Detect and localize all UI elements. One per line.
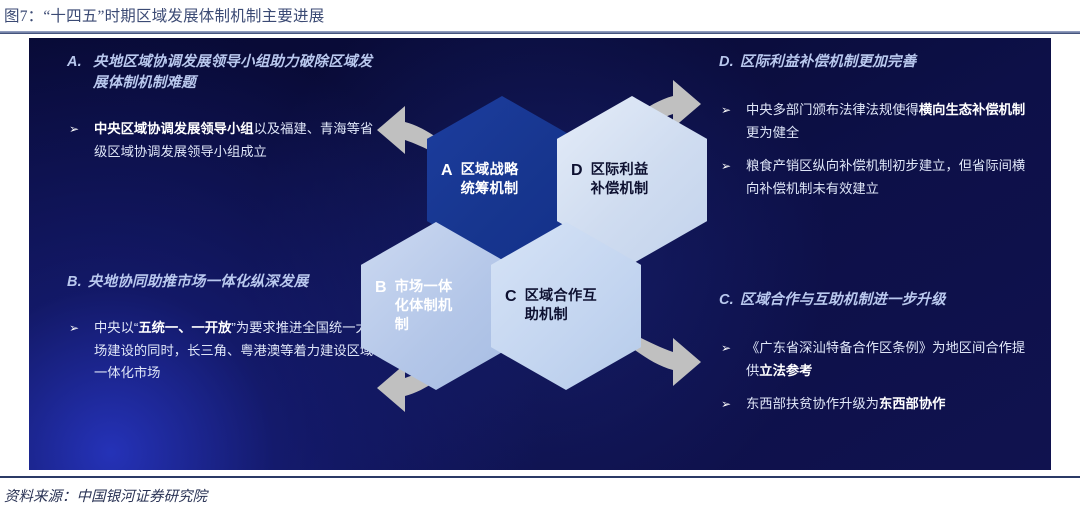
bullet-text: 中央多部门颁布法律法规使得横向生态补偿机制更为健全 [746, 102, 1025, 140]
section-d-bullet-1: ➢ 中央多部门颁布法律法规使得横向生态补偿机制更为健全 [719, 99, 1037, 144]
source-note: 资料来源：中国银河证券研究院 [4, 485, 207, 506]
section-a-bullet-1: ➢ 中央区域协调发展领导小组以及福建、青海等省级区域协调发展领导小组成立 [67, 118, 385, 163]
hexagon-d-label: 区际利益补偿机制 [591, 161, 649, 199]
bullet-arrow-icon: ➢ [721, 337, 731, 360]
hexagon-d-letter: D [571, 161, 583, 180]
section-b-heading-text: 央地协同助推市场一体化纵深发展 [88, 274, 309, 290]
section-b: B.央地协同助推市场一体化纵深发展 ➢ 中央以“五统一、一开放”为要求推进全国统… [67, 272, 385, 385]
bullet-text: 东西部扶贫协作升级为东西部协作 [746, 396, 945, 411]
bullet-text: 中央以“五统一、一开放”为要求推进全国统一大市场建设的同时，长三角、粤港澳等着力… [94, 320, 382, 380]
bullet-text: 粮食产销区纵向补偿机制初步建立，但省际间横向补偿机制未有效建立 [746, 158, 1025, 196]
section-b-heading: B.央地协同助推市场一体化纵深发展 [67, 272, 385, 293]
hexagon-b-label: 市场一体化体制机制 [395, 278, 453, 335]
section-b-bullet-1: ➢ 中央以“五统一、一开放”为要求推进全国统一大市场建设的同时，长三角、粤港澳等… [67, 317, 385, 385]
bullet-arrow-icon: ➢ [721, 393, 731, 416]
section-a-heading: A.央地区域协调发展领导小组助力破除区域发展体制机制难题 [67, 52, 385, 94]
hexagon-b-letter: B [375, 278, 387, 297]
source-divider [0, 476, 1080, 478]
figure-title: 图7：“十四五”时期区域发展体制机制主要进展 [4, 4, 324, 26]
bullet-arrow-icon: ➢ [721, 155, 731, 178]
section-c-heading: C.区域合作与互助机制进一步升级 [719, 290, 1037, 311]
section-d: D.区际利益补偿机制更加完善 ➢ 中央多部门颁布法律法规使得横向生态补偿机制更为… [719, 52, 1037, 200]
hexagon-cluster: A 区域战略统筹机制 D 区际利益补偿机制 B 市场一体化体制机制 C 区域合作… [369, 58, 719, 448]
section-a-heading-text: 央地区域协调发展领导小组助力破除区域发展体制机制难题 [93, 54, 372, 91]
bullet-arrow-icon: ➢ [69, 118, 79, 141]
section-d-letter: D. [719, 54, 734, 70]
section-d-heading: D.区际利益补偿机制更加完善 [719, 52, 1037, 73]
bullet-arrow-icon: ➢ [721, 99, 731, 122]
section-c-letter: C. [719, 292, 734, 308]
bullet-text: 《广东省深汕特备合作区条例》为地区间合作提供立法参考 [746, 340, 1025, 378]
section-c-bullet-2: ➢ 东西部扶贫协作升级为东西部协作 [719, 393, 1037, 416]
hexagon-a-label: 区域战略统筹机制 [461, 161, 519, 199]
section-c-bullet-1: ➢ 《广东省深汕特备合作区条例》为地区间合作提供立法参考 [719, 337, 1037, 382]
section-b-letter: B. [67, 274, 82, 290]
figure-panel: A.央地区域协调发展领导小组助力破除区域发展体制机制难题 ➢ 中央区域协调发展领… [29, 38, 1051, 470]
hexagon-c-letter: C [505, 287, 517, 306]
hexagon-c-label: 区域合作互助机制 [525, 287, 597, 325]
section-d-heading-text: 区际利益补偿机制更加完善 [740, 54, 916, 70]
section-a: A.央地区域协调发展领导小组助力破除区域发展体制机制难题 ➢ 中央区域协调发展领… [67, 52, 385, 163]
section-c-heading-text: 区域合作与互助机制进一步升级 [740, 292, 946, 308]
section-d-bullet-2: ➢ 粮食产销区纵向补偿机制初步建立，但省际间横向补偿机制未有效建立 [719, 155, 1037, 200]
section-a-letter: A. [67, 52, 89, 73]
bullet-text: 中央区域协调发展领导小组以及福建、青海等省级区域协调发展领导小组成立 [94, 121, 373, 159]
section-c: C.区域合作与互助机制进一步升级 ➢ 《广东省深汕特备合作区条例》为地区间合作提… [719, 290, 1037, 416]
hexagon-a-letter: A [441, 161, 453, 180]
bullet-arrow-icon: ➢ [69, 317, 79, 340]
title-divider [0, 31, 1080, 34]
